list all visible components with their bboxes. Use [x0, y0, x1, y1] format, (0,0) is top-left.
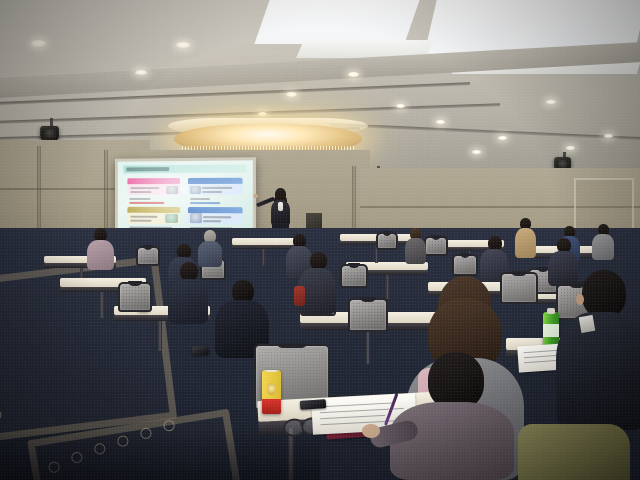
attendee-back-center — [402, 228, 428, 264]
smartphone-mid — [192, 345, 210, 355]
skylight-panel-1 — [254, 0, 419, 44]
ceiling-speaker-left — [40, 126, 59, 141]
attendee-gray-jacket — [590, 224, 616, 260]
speaker-face — [42, 129, 57, 138]
attendee-torso — [515, 228, 536, 258]
thermos-cap — [266, 370, 277, 372]
smartphone-front — [300, 399, 327, 410]
attendee-torso — [168, 279, 208, 324]
seminar-room-photo — [0, 0, 640, 480]
downlight-9 — [472, 150, 481, 154]
attendee-torso — [592, 234, 614, 260]
attendee-ear — [576, 294, 584, 305]
attendee-collar — [579, 315, 596, 333]
attendee-foreground-woman-center — [386, 352, 518, 480]
chair-notch — [360, 297, 376, 302]
downlight-13 — [604, 134, 613, 138]
downlight-3 — [135, 70, 147, 75]
table-leg — [386, 275, 389, 299]
bottle-cap — [547, 308, 555, 314]
projection-screen — [115, 157, 256, 235]
chair-notch — [277, 343, 307, 348]
screen-hotspot-glare — [118, 160, 253, 231]
table-leg — [100, 292, 104, 318]
chair-back-5 — [452, 254, 478, 276]
attendee-torso — [405, 238, 426, 264]
screen-surface — [118, 160, 253, 231]
bottle-label — [543, 324, 559, 338]
paper-line — [320, 415, 384, 420]
attendee-front-left — [166, 262, 210, 324]
attendee-gray-hair — [196, 230, 224, 266]
speaker-face — [556, 160, 569, 168]
downlight-8 — [436, 120, 445, 124]
foreground-shadow — [0, 430, 320, 480]
downlight-4 — [286, 92, 297, 97]
attendee-tan-coat — [512, 218, 538, 260]
table-leg — [262, 249, 265, 265]
downlight-5 — [348, 72, 359, 77]
chair-mid-1 — [118, 282, 152, 312]
attendee-torso — [390, 402, 514, 480]
attendee-head — [582, 270, 626, 318]
attendee-red-accessory — [294, 286, 305, 306]
attendee-foreground-man-right — [560, 270, 640, 430]
table-leg — [366, 330, 370, 364]
attendee-mauve-top — [84, 228, 116, 270]
rug-medallion — [0, 409, 2, 421]
table-leg — [158, 321, 162, 351]
attendee-torso — [87, 240, 114, 270]
downlight-10 — [498, 136, 507, 140]
thermos-character-face — [267, 383, 276, 394]
attendee-torso — [556, 312, 640, 430]
downlight-7 — [396, 104, 405, 108]
downlight-12 — [566, 146, 575, 150]
paper-line — [320, 402, 393, 407]
downlight-2 — [176, 42, 190, 48]
chair-back-9 — [340, 264, 368, 288]
thermos-base — [262, 399, 281, 414]
chair-back-1 — [136, 246, 160, 266]
green-tea-bottle-front — [543, 312, 559, 346]
downlight-1 — [31, 40, 46, 47]
downlight-11 — [546, 100, 556, 104]
chair-back-3 — [376, 232, 398, 250]
attendee-hand — [362, 424, 380, 438]
presenter-hand — [253, 194, 258, 198]
thermos-bottle — [262, 370, 281, 414]
chair-back — [118, 282, 152, 312]
presenter-blouse — [278, 202, 283, 211]
attendee-red-bag-person — [296, 252, 338, 314]
chair-back — [348, 298, 388, 332]
chair-mid-3 — [348, 298, 388, 332]
olive-bag — [518, 424, 630, 480]
